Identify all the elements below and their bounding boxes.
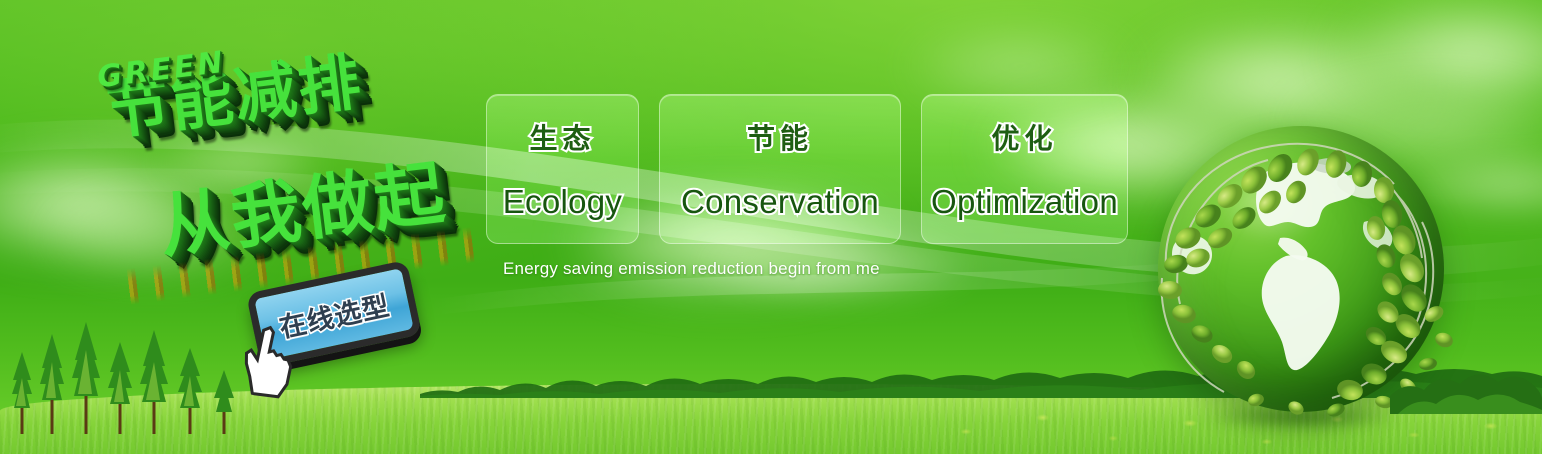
online-selection-label: 在线选型 xyxy=(275,283,393,344)
feature-card-list: 生态 Ecology 节能 Conservation 优化 Optimizati… xyxy=(486,94,1128,244)
banner-tagline: Energy saving emission reduction begin f… xyxy=(503,259,880,279)
card-optimization-en: Optimization xyxy=(931,183,1118,221)
card-conservation[interactable]: 节能 Conservation xyxy=(659,94,901,244)
card-optimization[interactable]: 优化 Optimization xyxy=(921,94,1128,244)
card-conservation-en: Conservation xyxy=(681,183,879,221)
card-conservation-cn: 节能 xyxy=(747,117,813,157)
card-ecology-cn: 生态 xyxy=(529,117,595,157)
card-ecology-en: Ecology xyxy=(503,183,623,221)
card-ecology[interactable]: 生态 Ecology xyxy=(486,94,639,244)
card-optimization-cn: 优化 xyxy=(991,117,1057,157)
eco-promo-banner: 节能减排 GREEN 从我做起 在线选型 生态 Ecology 节能 Conse… xyxy=(0,0,1542,454)
shrub-cluster-icon xyxy=(1390,352,1542,414)
